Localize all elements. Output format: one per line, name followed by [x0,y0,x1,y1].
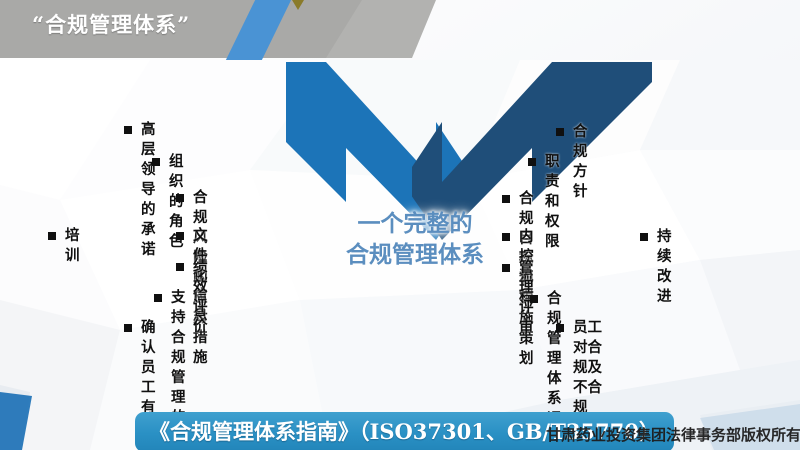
bullet-square-icon [124,324,132,332]
bullet-square-icon [556,128,564,136]
bullet-square-icon [502,264,510,272]
center-title-line1: 一个完整的 [330,208,500,239]
list-item-label: 绩效评价 [193,257,208,337]
bullet-square-icon [152,158,160,166]
slide-canvas: “合规管理体系” 高层领导的承诺 组织的角色 合规风险的应对措施 [0,0,800,450]
list-item: 培训 [48,226,80,266]
list-item-label: 职责和权限 [545,152,560,252]
bullet-square-icon [640,233,648,241]
list-item-label: 持续改进 [657,227,672,307]
bullet-square-icon [154,294,162,302]
list-item: 管理评审 [502,258,534,338]
bullet-square-icon [556,324,564,332]
bullet-square-icon [528,158,536,166]
bullet-square-icon [530,295,538,303]
bullet-square-icon [124,126,132,134]
copyright-watermark: 甘肃药业投资集团法律事务部版权所有 [546,424,800,445]
bullet-square-icon [176,232,184,240]
bullet-square-icon [48,232,56,240]
center-title: 一个完整的 合规管理体系 [330,208,500,270]
bullet-square-icon [176,194,184,202]
bullet-square-icon [502,195,510,203]
list-item-label: 培训 [65,226,80,266]
list-item: 高层领导的承诺 [124,120,156,260]
bullet-square-icon [176,263,184,271]
list-item: 持续改进 [640,227,672,307]
list-item-label: 合规方针 [573,122,588,202]
bullet-square-icon [502,233,510,241]
center-title-line2: 合规管理体系 [330,239,500,270]
list-item: 合规方针 [556,122,588,202]
